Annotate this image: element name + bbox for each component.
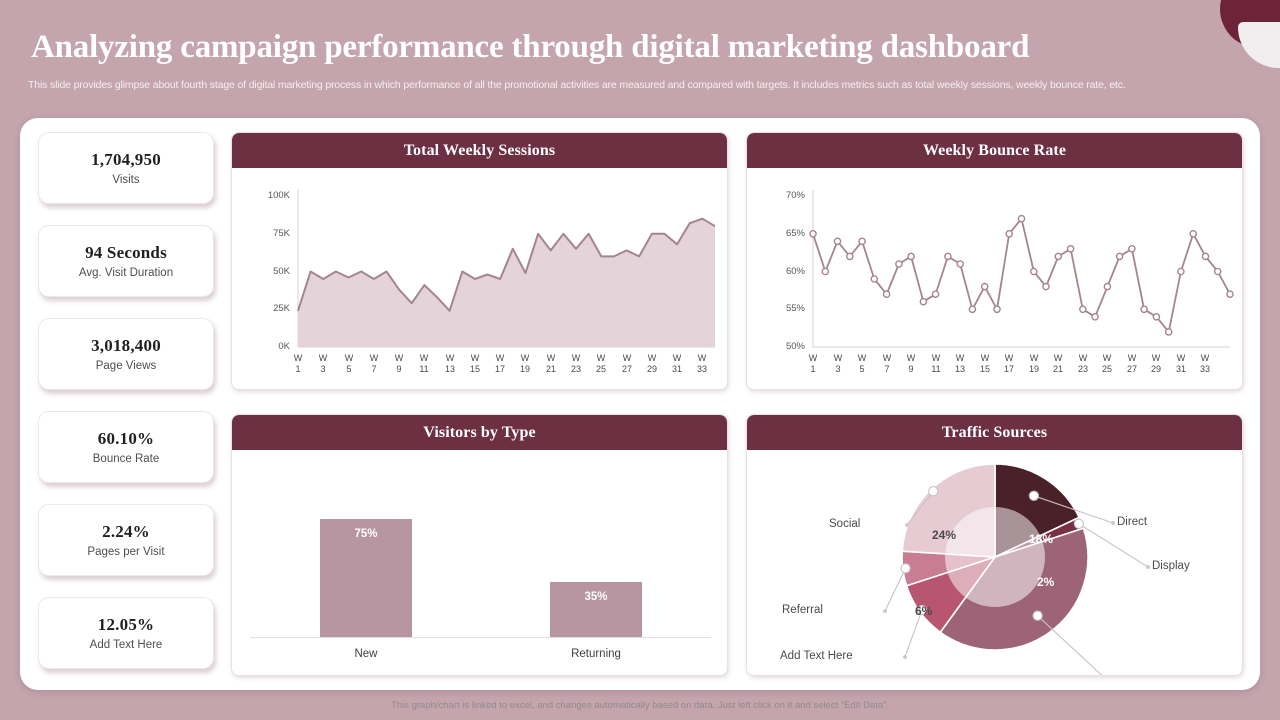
chart-title: Traffic Sources — [942, 424, 1047, 442]
y-axis-tick-label: 70% — [757, 190, 805, 201]
bar-value-label: 35% — [550, 591, 642, 603]
chart-plot-area: 50%55%60%65%70%W1W3W5W7W9W11W13W15W17W19… — [747, 168, 1242, 390]
kpi-label: Visits — [112, 174, 139, 186]
bar-chart-baseline — [250, 637, 711, 638]
kpi-card-add-text-here[interactable]: 12.05% Add Text Here — [38, 597, 214, 669]
kpi-card-bounce-rate[interactable]: 60.10% Bounce Rate — [38, 411, 214, 483]
y-axis-tick-label: 50K — [242, 266, 290, 277]
chart-card-total-weekly-sessions[interactable]: Total Weekly Sessions 0K25K50K75K100KW1W… — [231, 132, 728, 390]
x-axis-tick-label: W17 — [998, 353, 1020, 375]
kpi-value: 2.24% — [102, 522, 150, 542]
x-axis-tick-label: W5 — [851, 353, 873, 375]
bar[interactable]: 75% — [320, 519, 412, 637]
chart-plot-area: DirectDisplayOrganic SearchAdd Text Here… — [747, 450, 1242, 676]
x-axis-tick-label: W1 — [802, 353, 824, 375]
y-axis-tick-label: 0K — [242, 341, 290, 352]
x-axis-tick-label: W9 — [900, 353, 922, 375]
x-axis-tick-label: W19 — [1023, 353, 1045, 375]
x-axis-tick-label: W7 — [363, 353, 385, 375]
chart-header: Total Weekly Sessions — [232, 133, 727, 168]
pie-percentage-label: 2% — [1037, 575, 1054, 589]
kpi-card-visits[interactable]: 1,704,950 Visits — [38, 132, 214, 204]
bar[interactable]: 35% — [550, 582, 642, 637]
y-axis-tick-label: 25K — [242, 303, 290, 314]
x-axis-tick-label: W33 — [691, 353, 713, 375]
kpi-label: Bounce Rate — [93, 453, 160, 465]
y-axis-tick-label: 50% — [757, 341, 805, 352]
pie-series-label: Direct — [1117, 516, 1147, 528]
x-axis-tick-label: W33 — [1194, 353, 1216, 375]
pie-percentage-label: 18% — [1029, 532, 1053, 546]
y-axis-tick-label: 65% — [757, 228, 805, 239]
page-subtitle: This slide provides glimpse about fourth… — [28, 78, 1240, 93]
pie-inner-overlay — [945, 507, 1045, 607]
x-axis-tick-label: W17 — [489, 353, 511, 375]
x-axis-tick-label: W31 — [1170, 353, 1192, 375]
kpi-value: 60.10% — [98, 429, 154, 449]
kpi-value: 12.05% — [98, 615, 154, 635]
kpi-card-pages-per-visit[interactable]: 2.24% Pages per Visit — [38, 504, 214, 576]
chart-card-visitors-by-type[interactable]: Visitors by Type 75%New35%Returning — [231, 414, 728, 676]
footnote: This graph/chart is linked to excel, and… — [0, 700, 1280, 711]
x-axis-tick-label: W7 — [876, 353, 898, 375]
y-axis-tick-label: 55% — [757, 303, 805, 314]
pie-percentage-label: 40% — [1039, 648, 1063, 662]
page-title: Analyzing campaign performance through d… — [31, 26, 1211, 68]
x-axis-tick-label: W21 — [540, 353, 562, 375]
x-axis-tick-label: W23 — [565, 353, 587, 375]
kpi-card-page-views[interactable]: 3,018,400 Page Views — [38, 318, 214, 390]
bar-category-label: New — [306, 648, 426, 660]
pie-callout-marker — [929, 487, 938, 496]
chart-card-traffic-sources[interactable]: Traffic Sources DirectDisplayOrganic Sea… — [746, 414, 1243, 676]
kpi-value: 3,018,400 — [91, 336, 161, 356]
bar-category-label: Returning — [536, 648, 656, 660]
pie-callout-marker — [1033, 611, 1042, 620]
y-axis-tick-label: 100K — [242, 190, 290, 201]
pie-callout-marker — [1029, 491, 1038, 500]
kpi-value: 94 Seconds — [85, 243, 167, 263]
y-axis-tick-label: 60% — [757, 266, 805, 277]
dashboard-panel: 1,704,950 Visits 94 Seconds Avg. Visit D… — [20, 118, 1260, 690]
x-axis-tick-label: W27 — [1121, 353, 1143, 375]
pie-callout-marker — [901, 564, 910, 573]
pie-percentage-label: 24% — [932, 528, 956, 542]
pie-series-label: Social — [829, 518, 860, 530]
x-axis-tick-label: W31 — [666, 353, 688, 375]
corner-decoration-quarter-icon — [1238, 22, 1280, 68]
x-axis-tick-label: W19 — [514, 353, 536, 375]
chart-header: Weekly Bounce Rate — [747, 133, 1242, 168]
x-axis-tick-label: W25 — [590, 353, 612, 375]
x-axis-tick-label: W25 — [1096, 353, 1118, 375]
x-axis-tick-label: W13 — [949, 353, 971, 375]
chart-title: Total Weekly Sessions — [404, 142, 555, 160]
kpi-label: Avg. Visit Duration — [79, 267, 173, 279]
x-axis-tick-label: W15 — [464, 353, 486, 375]
pie-callout-marker — [1074, 519, 1083, 528]
kpi-label: Page Views — [96, 360, 157, 372]
pie-series-label: Display — [1152, 560, 1190, 572]
pie-series-label: Referral — [782, 604, 823, 616]
x-axis-tick-label: W1 — [287, 353, 309, 375]
x-axis-tick-label: W29 — [641, 353, 663, 375]
y-axis-tick-label: 75K — [242, 228, 290, 239]
x-axis-tick-label: W29 — [1145, 353, 1167, 375]
x-axis-tick-label: W9 — [388, 353, 410, 375]
kpi-value: 1,704,950 — [91, 150, 161, 170]
x-axis-tick-label: W5 — [338, 353, 360, 375]
x-axis-tick-label: W13 — [439, 353, 461, 375]
chart-plot-area: 75%New35%Returning — [232, 450, 727, 676]
chart-title: Weekly Bounce Rate — [923, 142, 1066, 160]
pie-percentage-label: 10% — [932, 637, 956, 651]
x-axis-tick-label: W15 — [974, 353, 996, 375]
kpi-label: Pages per Visit — [87, 546, 164, 558]
chart-header: Visitors by Type — [232, 415, 727, 450]
x-axis-tick-label: W23 — [1072, 353, 1094, 375]
x-axis-tick-label: W27 — [616, 353, 638, 375]
kpi-card-list: 1,704,950 Visits 94 Seconds Avg. Visit D… — [38, 132, 232, 690]
pie-percentage-label: 6% — [915, 604, 932, 618]
bar-value-label: 75% — [320, 528, 412, 540]
x-axis-tick-label: W21 — [1047, 353, 1069, 375]
pie-series-label: Add Text Here — [780, 650, 853, 662]
x-axis-tick-label: W3 — [312, 353, 334, 375]
pie-series-label: Organic Search — [1113, 675, 1193, 676]
chart-title: Visitors by Type — [423, 424, 535, 442]
kpi-card-avg-visit-duration[interactable]: 94 Seconds Avg. Visit Duration — [38, 225, 214, 297]
x-axis-tick-label: W11 — [925, 353, 947, 375]
chart-plot-area: 0K25K50K75K100KW1W3W5W7W9W11W13W15W17W19… — [232, 168, 727, 390]
chart-header: Traffic Sources — [747, 415, 1242, 450]
x-axis-tick-label: W11 — [413, 353, 435, 375]
x-axis-tick-label: W3 — [827, 353, 849, 375]
chart-card-weekly-bounce-rate[interactable]: Weekly Bounce Rate 50%55%60%65%70%W1W3W5… — [746, 132, 1243, 390]
kpi-label: Add Text Here — [90, 639, 163, 651]
